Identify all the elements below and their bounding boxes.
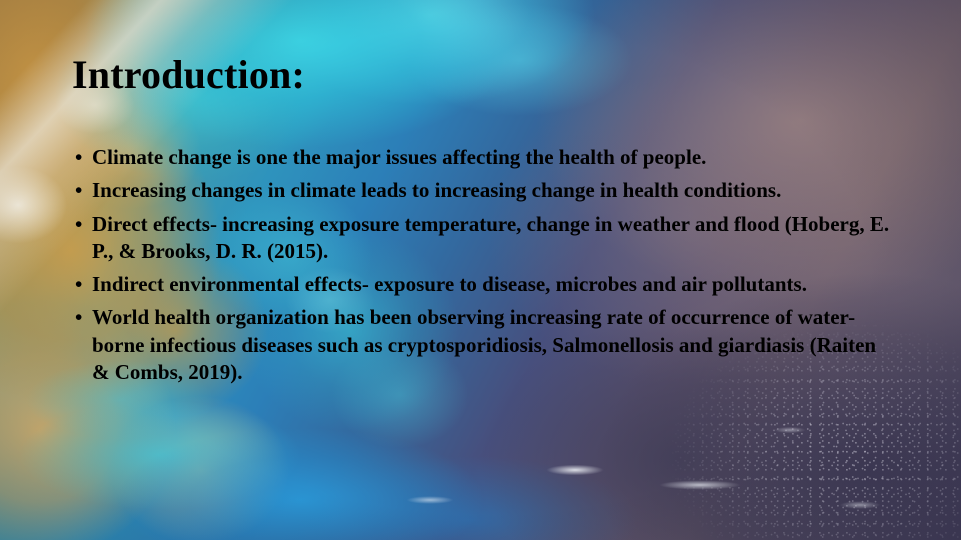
bullet-text: Indirect environmental effects- exposure…	[92, 271, 890, 298]
bullet-point-icon: •	[75, 304, 82, 331]
bullet-text: Direct effects- increasing exposure temp…	[92, 211, 890, 266]
bullet-text: Increasing changes in climate leads to i…	[92, 177, 890, 204]
bullet-list: • Climate change is one the major issues…	[70, 144, 890, 386]
slide-content: Introduction: • Climate change is one th…	[0, 0, 961, 540]
bullet-item-who-observation: • World health organization has been obs…	[70, 304, 890, 386]
bullet-point-icon: •	[75, 271, 82, 298]
bullet-text: World health organization has been obser…	[92, 304, 890, 386]
bullet-item-direct-effects: • Direct effects- increasing exposure te…	[70, 211, 890, 266]
bullet-item-indirect-effects: • Indirect environmental effects- exposu…	[70, 271, 890, 298]
bullet-point-icon: •	[75, 144, 82, 171]
bullet-point-icon: •	[75, 211, 82, 238]
bullet-item-increasing-changes: • Increasing changes in climate leads to…	[70, 177, 890, 204]
bullet-text: Climate change is one the major issues a…	[92, 144, 890, 171]
presentation-slide: Introduction: • Climate change is one th…	[0, 0, 961, 540]
bullet-point-icon: •	[75, 177, 82, 204]
slide-title: Introduction:	[72, 52, 305, 98]
bullet-item-climate-change: • Climate change is one the major issues…	[70, 144, 890, 171]
